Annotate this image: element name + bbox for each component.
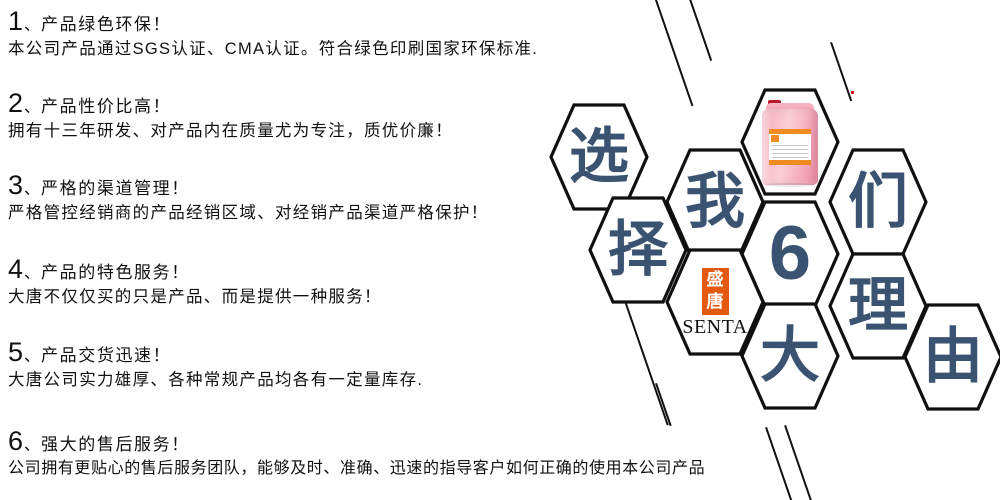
hex-cell-product	[740, 88, 840, 196]
label-text-line	[772, 153, 808, 155]
hex-cell-men: 们	[828, 148, 928, 256]
product-jerrycan-image	[759, 99, 821, 185]
brand-logo: 盛 唐 SENTA	[682, 268, 747, 337]
promo-banner: 1 、 产品绿色环保！ 本公司产品通过SGS认证、CMA认证。符合绿色印刷国家环…	[0, 0, 1000, 500]
hex-cell-you-label: 由	[923, 327, 983, 387]
hexagon-cluster: 选 择 我	[0, 0, 1000, 500]
jerrycan-shadow	[765, 183, 815, 187]
hex-cell-da-label: 大	[760, 326, 820, 386]
hex-cell-six: 6	[740, 200, 840, 308]
brand-logo-mark: 盛 唐	[702, 268, 729, 315]
hex-cell-li-label: 理	[848, 276, 908, 336]
brand-mark-char-top: 盛	[707, 269, 724, 291]
hex-cell-da: 大	[740, 302, 840, 410]
jerrycan-label	[769, 129, 811, 165]
brand-mark-char-bottom: 唐	[707, 291, 724, 313]
label-text-line	[772, 149, 808, 151]
brand-wordmark: SENTA	[682, 317, 747, 337]
hex-cell-wo-label: 我	[685, 172, 745, 232]
hex-cell-men-label: 们	[848, 172, 908, 232]
hex-cell-you: 由	[903, 303, 1000, 411]
label-text-line	[772, 145, 808, 147]
hex-cell-six-label: 6	[769, 216, 811, 292]
label-text-line	[772, 157, 808, 159]
hex-cell-xuan: 选	[549, 103, 649, 211]
hex-cell-xuan-label: 选	[569, 127, 629, 187]
label-logo-block	[771, 135, 779, 142]
hex-cell-ze-label: 择	[608, 220, 668, 280]
